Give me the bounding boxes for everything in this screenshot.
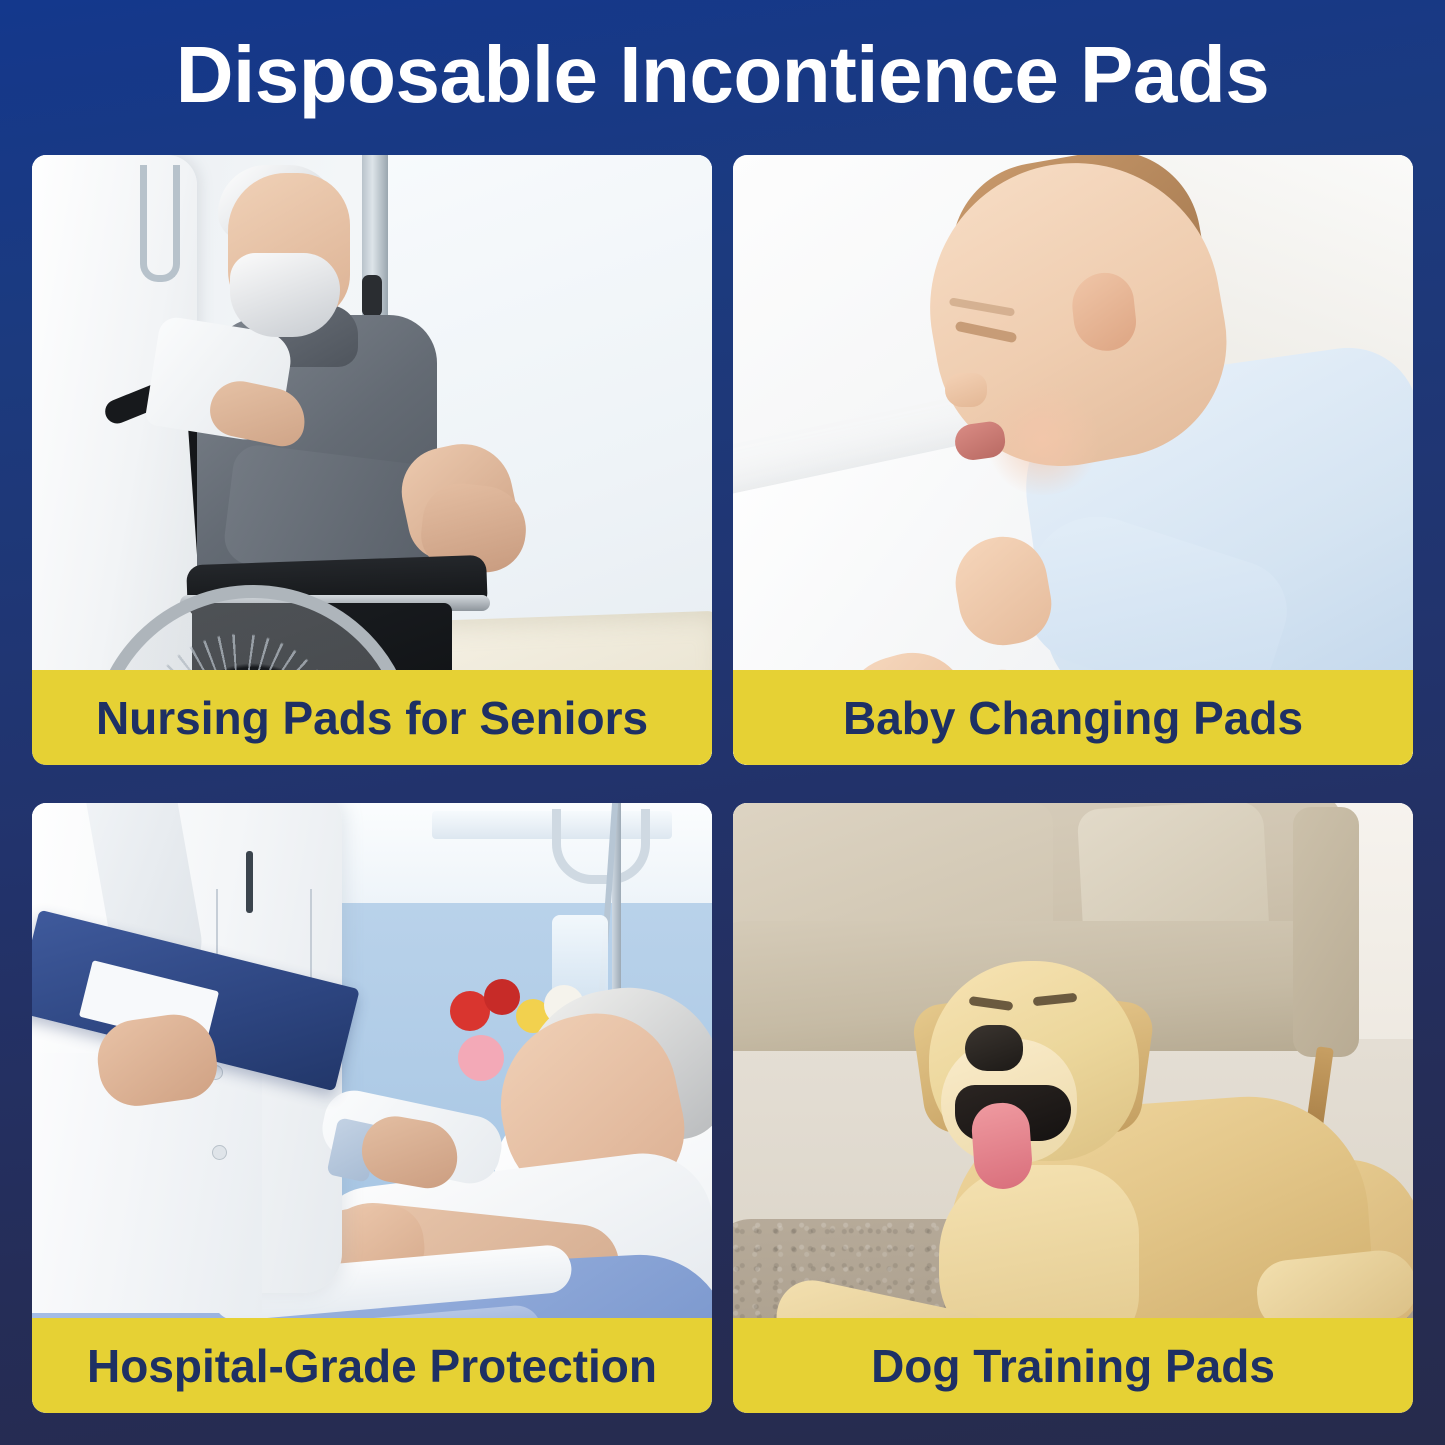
poster-title-bar: Disposable Incontience Pads: [0, 0, 1445, 150]
card-caption-text: Dog Training Pads: [871, 1343, 1275, 1389]
pen-icon: [246, 851, 253, 913]
baby-nose-shape: [945, 373, 987, 407]
page-title: Disposable Incontience Pads: [176, 35, 1270, 115]
feature-card-nursing-pads-for-seniors[interactable]: Nursing Pads for Seniors: [32, 155, 712, 765]
card-caption-banner: Dog Training Pads: [733, 1318, 1413, 1413]
card-caption-banner: Nursing Pads for Seniors: [32, 670, 712, 765]
senior-beard-shape: [230, 253, 340, 337]
stethoscope-shape: [140, 165, 180, 282]
feature-card-dog-training-pads[interactable]: Dog Training Pads: [733, 803, 1413, 1413]
product-infographic-poster: Disposable Incontience Pads: [0, 0, 1445, 1445]
flower-red-shape: [484, 979, 520, 1015]
card-caption-text: Hospital-Grade Protection: [87, 1343, 657, 1389]
feature-card-baby-changing-pads[interactable]: Baby Changing Pads: [733, 155, 1413, 765]
card-caption-text: Baby Changing Pads: [843, 695, 1303, 741]
window-handle-shape: [362, 275, 382, 317]
feature-card-hospital-grade-protection[interactable]: Hospital-Grade Protection: [32, 803, 712, 1413]
dog-nose-shape: [965, 1025, 1023, 1071]
coat-button-shape: [212, 1145, 227, 1160]
card-caption-text: Nursing Pads for Seniors: [96, 695, 648, 741]
feature-card-grid: Nursing Pads for Seniors: [32, 155, 1413, 1413]
iv-hook-shape: [552, 809, 650, 884]
card-caption-banner: Hospital-Grade Protection: [32, 1318, 712, 1413]
card-caption-banner: Baby Changing Pads: [733, 670, 1413, 765]
flower-pink-shape: [458, 1035, 504, 1081]
sofa-armrest-shape: [1293, 807, 1359, 1057]
dog-tongue-shape: [970, 1101, 1034, 1191]
